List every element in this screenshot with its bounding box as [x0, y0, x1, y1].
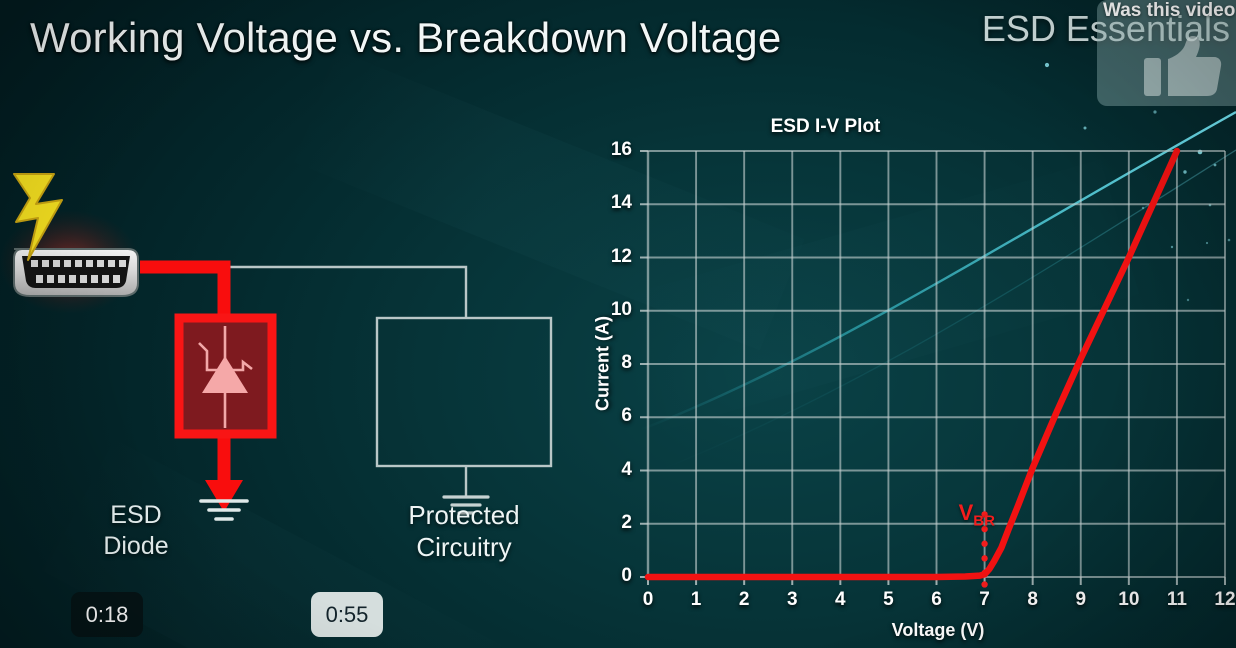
signal-wire: [228, 267, 466, 318]
chart-x-tick: 5: [871, 589, 905, 611]
feedback-overlay-card[interactable]: Was this video: [1097, 0, 1236, 106]
chart-x-tick: 6: [920, 589, 954, 611]
esd-iv-chart: ESD I-V Plot Current (A) Voltage (V) 024…: [575, 108, 1236, 648]
chart-x-tick: 3: [775, 589, 809, 611]
chart-y-tick: 12: [598, 246, 632, 268]
chart-x-tick: 10: [1112, 589, 1146, 611]
circuit-diagram: ESD Diode Protected Circuitry: [0, 150, 580, 570]
chart-y-tick: 10: [598, 299, 632, 321]
chart-y-tick: 8: [598, 352, 632, 374]
chart-plot-area: [575, 108, 1236, 648]
feedback-overlay-text: Was this video: [1103, 0, 1236, 22]
esd-diode-label-line2: Diode: [88, 531, 184, 562]
video-frame: Working Voltage vs. Breakdown Voltage ES…: [0, 0, 1236, 648]
chart-y-tick: 2: [598, 512, 632, 534]
page-title: Working Voltage vs. Breakdown Voltage: [30, 14, 781, 62]
chart-y-tick: 14: [598, 192, 632, 214]
hdmi-connector-icon: [14, 249, 138, 296]
chart-x-tick: 9: [1064, 589, 1098, 611]
protected-circuitry-label-line1: Protected: [378, 500, 550, 532]
timestamp-total[interactable]: 0:55: [311, 592, 383, 637]
esd-diode-label-line1: ESD: [88, 500, 184, 531]
chart-y-tick: 0: [598, 565, 632, 587]
breakdown-voltage-annotation: VBR: [959, 500, 995, 529]
chart-y-tick: 16: [598, 139, 632, 161]
chart-x-tick: 4: [823, 589, 857, 611]
protected-circuitry-label-line2: Circuitry: [378, 532, 550, 564]
thumbs-up-icon[interactable]: [1144, 36, 1222, 98]
protected-circuitry-label: Protected Circuitry: [378, 500, 550, 563]
chart-y-tick: 6: [598, 405, 632, 427]
timestamp-current[interactable]: 0:18: [71, 592, 143, 637]
chart-x-tick: 7: [968, 589, 1002, 611]
chart-x-tick: 12: [1208, 589, 1236, 611]
chart-x-tick: 2: [727, 589, 761, 611]
protected-circuitry-box: [377, 318, 551, 466]
chart-y-tick: 4: [598, 459, 632, 481]
chart-x-tick: 8: [1016, 589, 1050, 611]
esd-diode-label: ESD Diode: [88, 500, 184, 561]
chart-x-tick: 1: [679, 589, 713, 611]
chart-x-tick: 11: [1160, 589, 1194, 611]
chart-x-tick: 0: [631, 589, 665, 611]
